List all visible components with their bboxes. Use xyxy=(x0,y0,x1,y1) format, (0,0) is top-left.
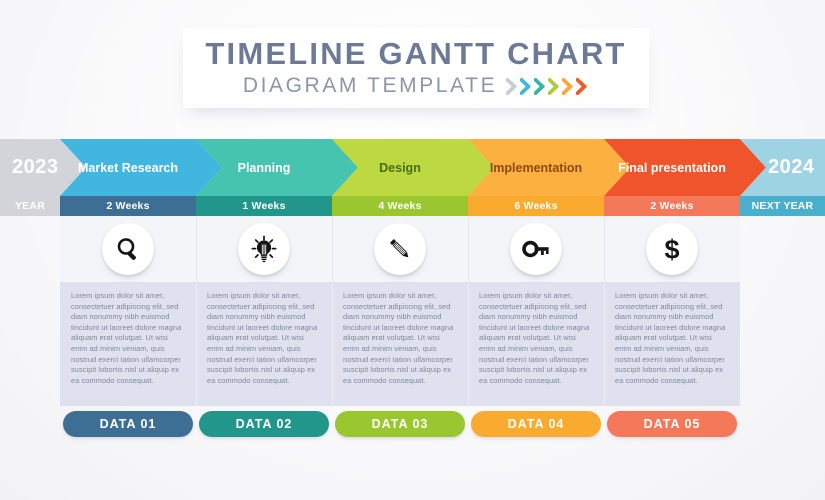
description-text: Lorem ipsum dolor sit amet, consectetuer… xyxy=(196,282,332,386)
accent-chevron-icon-4 xyxy=(548,78,561,95)
svg-text:$: $ xyxy=(664,235,679,265)
description-text: Lorem ipsum dolor sit amet, consectetuer… xyxy=(60,282,196,386)
infographic-canvas: TIMELINE GANTT CHART DIAGRAM TEMPLATE $ … xyxy=(0,0,825,500)
timeline-phase-bar: 2023Market ResearchPlanningDesignImpleme… xyxy=(0,139,825,196)
description-text: Lorem ipsum dolor sit amet, consectetuer… xyxy=(468,282,604,386)
phase-label-text: Implementation xyxy=(490,161,582,175)
icon-cell-4 xyxy=(468,216,604,282)
data-pill-row: DATA 01DATA 02DATA 03DATA 04DATA 05 xyxy=(60,411,740,437)
data-pill-cell-2: DATA 02 xyxy=(196,411,332,437)
end-year-label: 2024 xyxy=(768,139,815,196)
key-icon xyxy=(510,223,562,275)
phase-label-text: Final presentation xyxy=(618,161,726,175)
data-pill-4[interactable]: DATA 04 xyxy=(471,411,601,437)
data-pill-cell-3: DATA 03 xyxy=(332,411,468,437)
phase-label-text: Planning xyxy=(238,161,291,175)
accent-chevron-icon-1 xyxy=(506,78,519,95)
data-pill-cell-4: DATA 04 xyxy=(468,411,604,437)
accent-chevron-icon-5 xyxy=(562,78,575,95)
description-cell-4: Lorem ipsum dolor sit amet, consectetuer… xyxy=(468,282,604,406)
dollar-icon: $ xyxy=(646,223,698,275)
data-pill-cell-5: DATA 05 xyxy=(604,411,740,437)
pencil-icon xyxy=(374,223,426,275)
page-title: TIMELINE GANTT CHART xyxy=(205,38,626,71)
phase-label-5: Final presentation xyxy=(604,139,740,196)
icon-row: $ xyxy=(60,216,740,282)
subtitle-row: DIAGRAM TEMPLATE xyxy=(243,74,589,98)
accent-chevron-icon-2 xyxy=(520,78,533,95)
accent-chevron-icons xyxy=(506,78,589,95)
duration-bar: YEAR2 Weeks1 Weeks4 Weeks6 Weeks2 WeeksN… xyxy=(0,196,825,216)
duration-cell-2: 1 Weeks xyxy=(196,196,332,216)
phase-label-1: Market Research xyxy=(60,139,196,196)
description-row: Lorem ipsum dolor sit amet, consectetuer… xyxy=(60,282,740,406)
phase-label-3: Design xyxy=(332,139,468,196)
description-cell-5: Lorem ipsum dolor sit amet, consectetuer… xyxy=(604,282,740,406)
accent-chevron-icon-6 xyxy=(576,78,589,95)
accent-chevron-icon-3 xyxy=(534,78,547,95)
data-pill-5[interactable]: DATA 05 xyxy=(607,411,737,437)
data-pill-3[interactable]: DATA 03 xyxy=(335,411,465,437)
end-year-caption: NEXT YEAR xyxy=(740,196,825,216)
description-cell-1: Lorem ipsum dolor sit amet, consectetuer… xyxy=(60,282,196,406)
icon-cell-1 xyxy=(60,216,196,282)
icon-cell-5: $ xyxy=(604,216,740,282)
page-subtitle: DIAGRAM TEMPLATE xyxy=(243,74,497,98)
description-text: Lorem ipsum dolor sit amet, consectetuer… xyxy=(604,282,740,386)
description-text: Lorem ipsum dolor sit amet, consectetuer… xyxy=(332,282,468,386)
data-pill-cell-1: DATA 01 xyxy=(60,411,196,437)
phase-label-2: Planning xyxy=(196,139,332,196)
icon-cell-3 xyxy=(332,216,468,282)
start-year-label: 2023 xyxy=(12,139,59,196)
duration-cell-3: 4 Weeks xyxy=(332,196,468,216)
duration-cell-1: 2 Weeks xyxy=(60,196,196,216)
description-cell-3: Lorem ipsum dolor sit amet, consectetuer… xyxy=(332,282,468,406)
duration-cell-4: 6 Weeks xyxy=(468,196,604,216)
data-pill-2[interactable]: DATA 02 xyxy=(199,411,329,437)
start-year-caption: YEAR xyxy=(0,196,60,216)
duration-cell-5: 2 Weeks xyxy=(604,196,740,216)
icon-cell-2 xyxy=(196,216,332,282)
magnifier-icon xyxy=(102,223,154,275)
description-cell-2: Lorem ipsum dolor sit amet, consectetuer… xyxy=(196,282,332,406)
phase-label-text: Market Research xyxy=(78,161,178,175)
phase-label-4: Implementation xyxy=(468,139,604,196)
title-band: TIMELINE GANTT CHART DIAGRAM TEMPLATE xyxy=(183,28,649,108)
lightbulb-icon xyxy=(238,223,290,275)
phase-label-text: Design xyxy=(379,161,421,175)
data-pill-1[interactable]: DATA 01 xyxy=(63,411,193,437)
